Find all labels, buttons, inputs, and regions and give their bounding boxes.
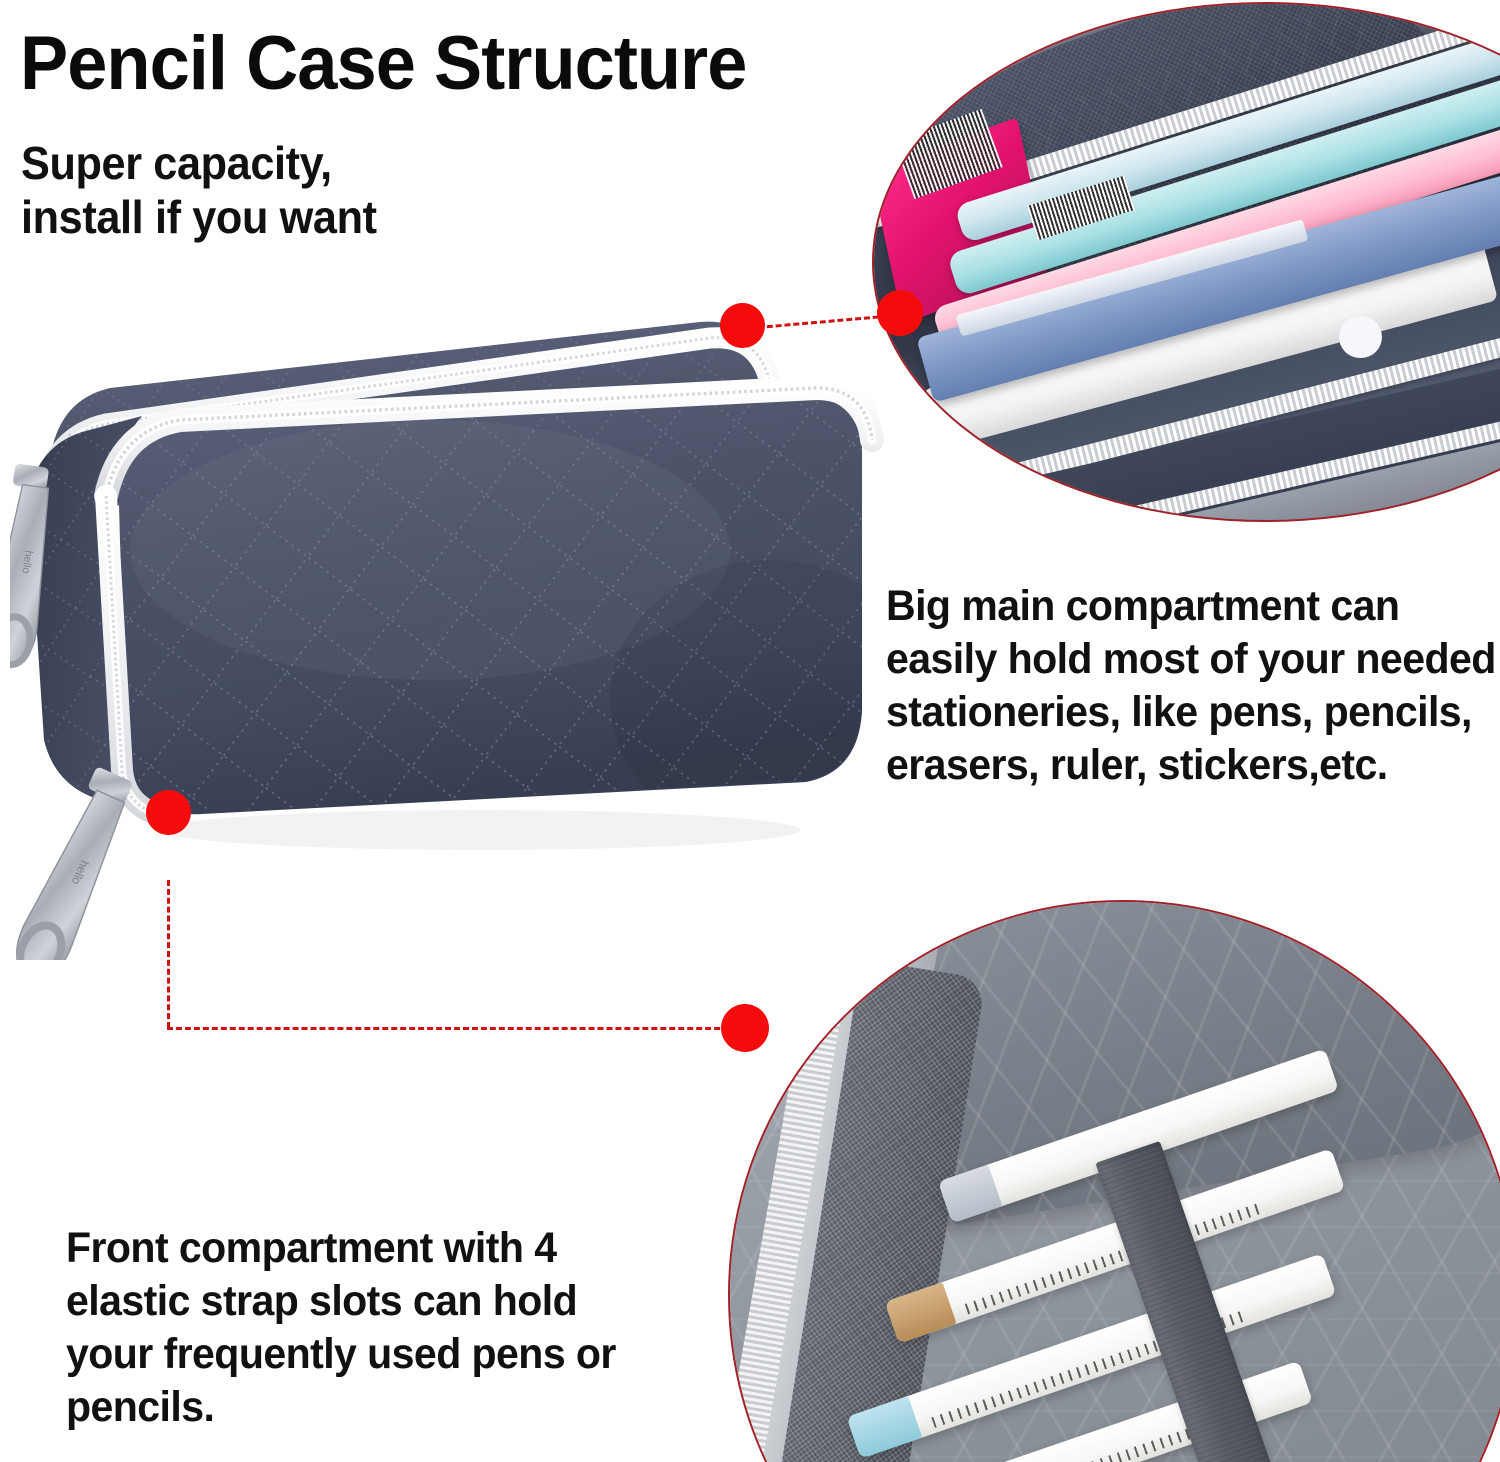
inset-front-compartment-photo <box>728 900 1500 1462</box>
connector-line-front-vertical <box>167 880 170 1028</box>
callout-dot-inset-main[interactable] <box>877 290 923 336</box>
scissors-handle-hole <box>1339 316 1381 358</box>
callout-text-main-compartment: Big main compartment can easily hold mos… <box>886 580 1497 792</box>
connector-line-front-horizontal <box>167 1027 747 1030</box>
infographic-page: Pencil Case Structure Super capacity, in… <box>0 0 1500 1462</box>
page-title: Pencil Case Structure <box>20 26 746 102</box>
callout-dot-inset-front[interactable] <box>721 1004 769 1052</box>
callout-dot-case-main[interactable] <box>720 303 765 348</box>
product-photo-pencil-case: hello hello <box>10 300 890 960</box>
zipper-pull-front: hello <box>10 765 143 960</box>
callout-dot-case-front[interactable] <box>146 790 191 835</box>
subtitle-line-2: install if you want <box>21 190 377 244</box>
page-subtitle: Super capacity, install if you want <box>21 136 377 245</box>
subtitle-line-1: Super capacity, <box>21 136 377 190</box>
callout-text-front-compartment: Front compartment with 4 elastic strap s… <box>66 1222 639 1434</box>
inset-main-compartment-photo: TOUCH Soft Head <box>872 2 1500 522</box>
